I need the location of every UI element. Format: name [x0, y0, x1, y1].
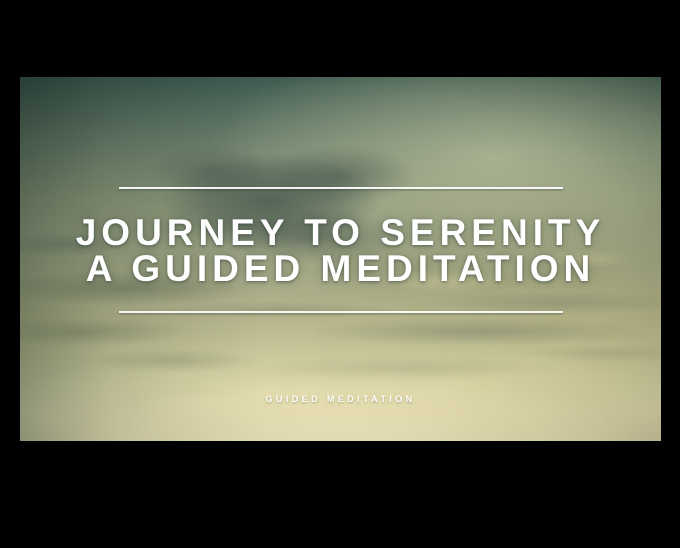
title-line-2: A GUIDED MEDITATION [76, 251, 606, 287]
screenshot-canvas: JOURNEY TO SERENITY A GUIDED MEDITATION … [0, 0, 680, 548]
page-title: JOURNEY TO SERENITY A GUIDED MEDITATION [76, 215, 606, 287]
subtitle-label: GUIDED MEDITATION [20, 394, 661, 404]
slide-frame[interactable]: JOURNEY TO SERENITY A GUIDED MEDITATION … [20, 77, 661, 441]
title-line-1: JOURNEY TO SERENITY [76, 215, 606, 251]
divider-rule-bottom [119, 311, 563, 313]
title-block: JOURNEY TO SERENITY A GUIDED MEDITATION [20, 77, 661, 441]
divider-rule-top [119, 187, 563, 189]
